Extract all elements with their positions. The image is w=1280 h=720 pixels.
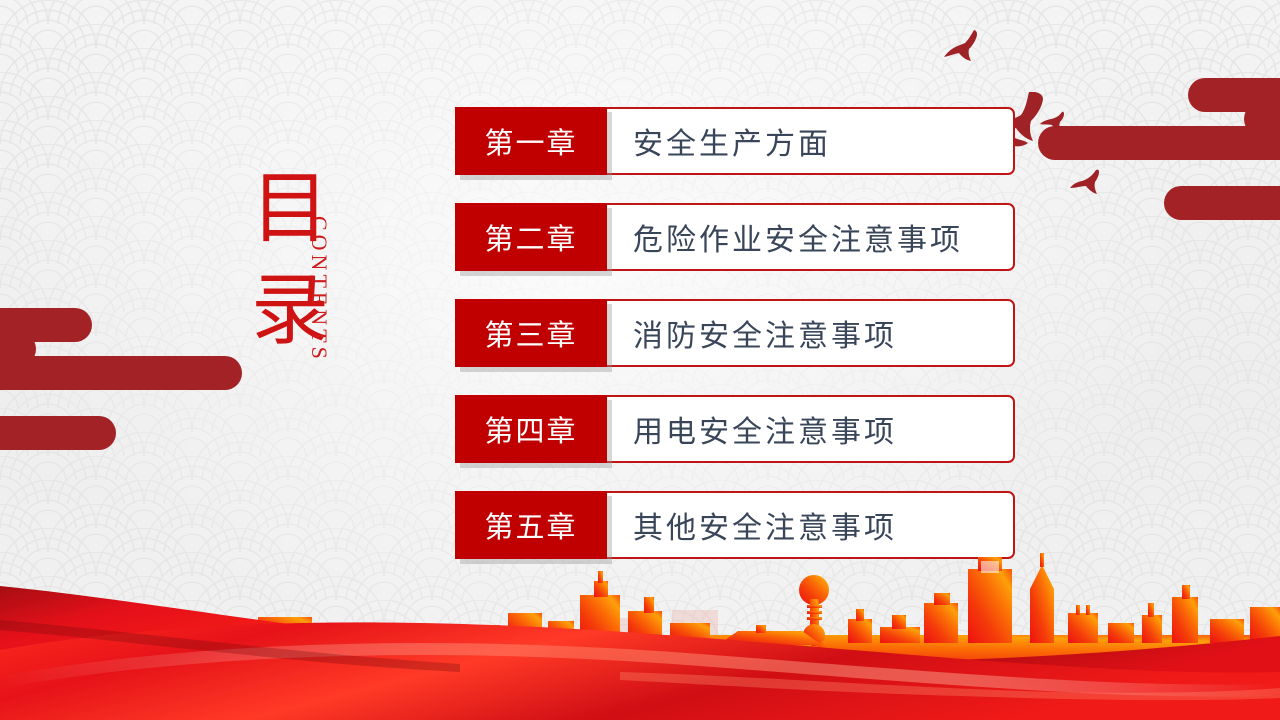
contents-row-box[interactable]: 安全生产方面	[595, 107, 1015, 175]
contents-row-label: 用电安全注意事项	[597, 407, 897, 451]
contents-row-label: 安全生产方面	[597, 119, 831, 163]
contents-list: 安全生产方面 第一章 危险作业安全注意事项 第二章 消防安全注意事项 第三章 用…	[455, 107, 1015, 587]
contents-row[interactable]: 用电安全注意事项 第四章	[455, 395, 1015, 463]
contents-row-chapter-badge[interactable]: 第二章	[455, 203, 607, 271]
title-english: CONTENTS	[306, 216, 332, 363]
contents-row-chapter-badge[interactable]: 第四章	[455, 395, 607, 463]
presentation-slide: 目 录 CONTENTS 安全生产方面 第一章 危险作业安全注意事项 第二章 消…	[0, 0, 1280, 720]
contents-row[interactable]: 安全生产方面 第一章	[455, 107, 1015, 175]
page-title: 目 录 CONTENTS	[236, 158, 416, 388]
bottom-decoration	[0, 530, 1280, 720]
bird-icon-3	[1040, 110, 1070, 132]
contents-row-chapter-badge[interactable]: 第五章	[455, 491, 607, 559]
contents-row-box[interactable]: 用电安全注意事项	[595, 395, 1015, 463]
bird-icon-4	[1070, 168, 1104, 196]
cloud-decoration-right	[1104, 78, 1280, 228]
contents-row[interactable]: 消防安全注意事项 第三章	[455, 299, 1015, 367]
contents-row-chapter-badge[interactable]: 第三章	[455, 299, 607, 367]
contents-row-box[interactable]: 危险作业安全注意事项	[595, 203, 1015, 271]
red-silk-ribbon	[0, 580, 1280, 720]
contents-row-label: 消防安全注意事项	[597, 311, 897, 355]
contents-row-box[interactable]: 消防安全注意事项	[595, 299, 1015, 367]
contents-row-label: 危险作业安全注意事项	[597, 215, 963, 259]
contents-row-chapter-badge[interactable]: 第一章	[455, 107, 607, 175]
cloud-decoration-left	[0, 308, 176, 458]
contents-row[interactable]: 危险作业安全注意事项 第二章	[455, 203, 1015, 271]
bird-icon-1	[944, 28, 990, 70]
